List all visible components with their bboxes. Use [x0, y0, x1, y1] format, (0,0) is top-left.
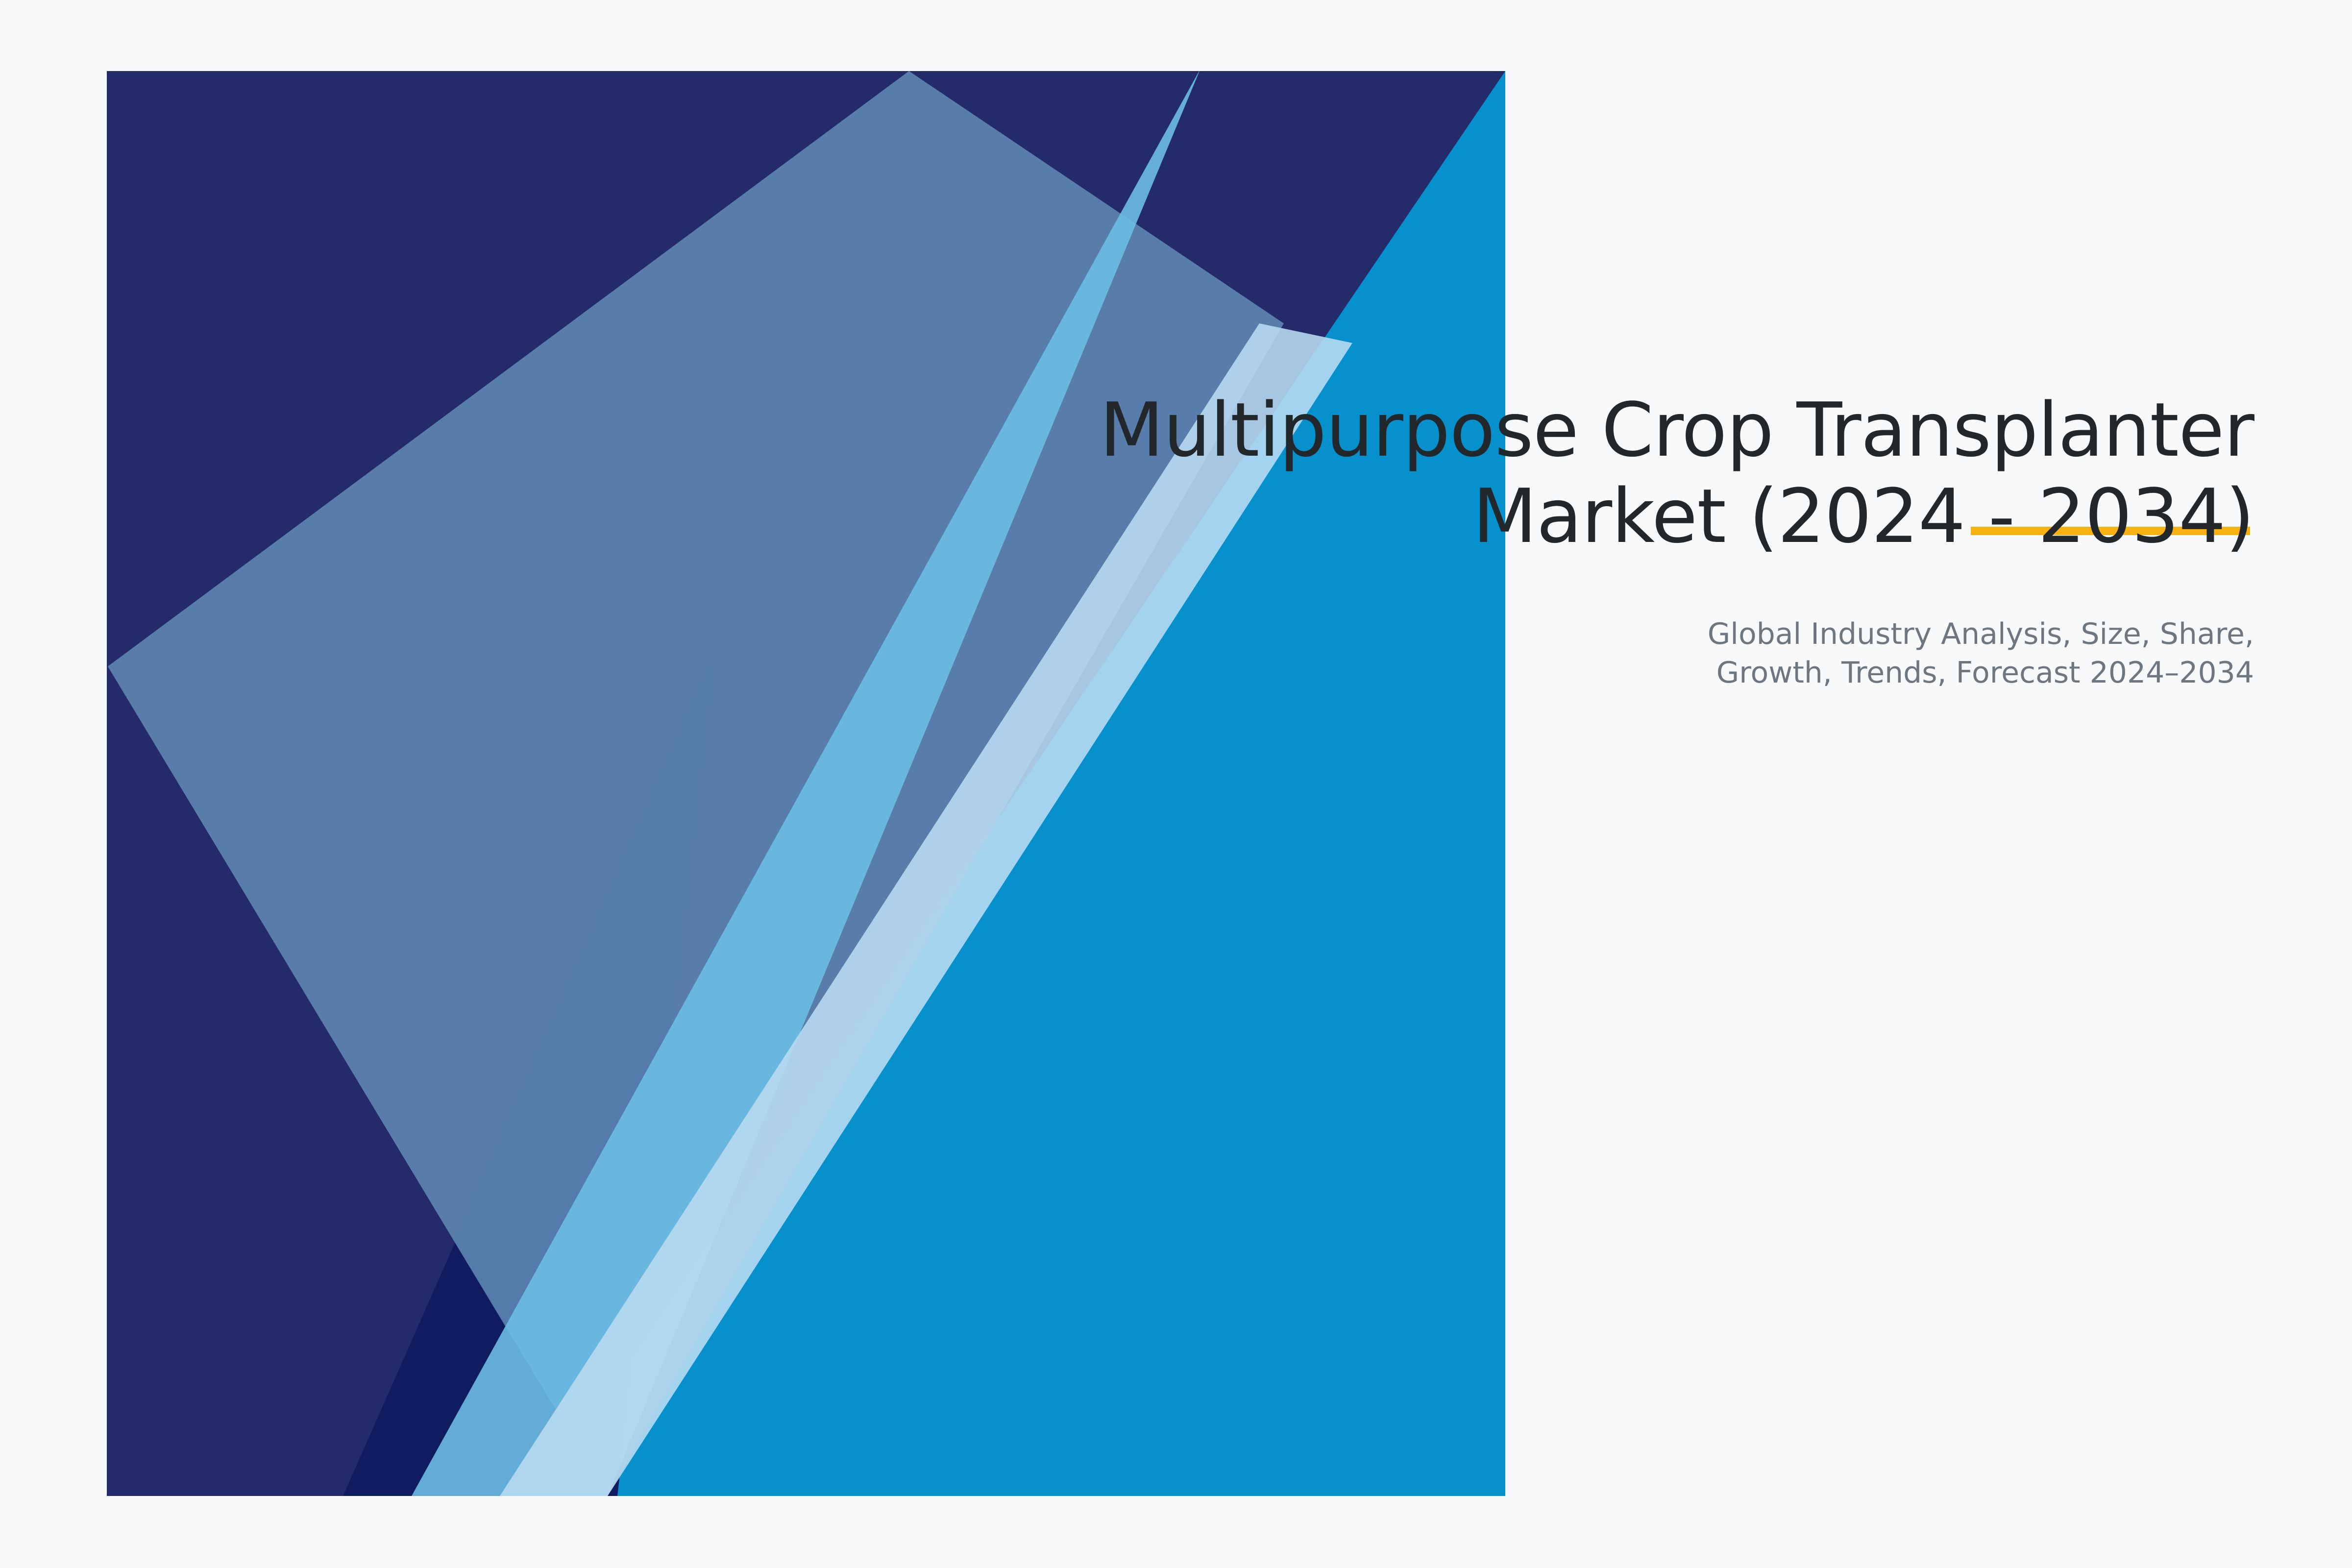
- page-title-line-1: Multipurpose Crop Transplanter: [1100, 387, 2254, 473]
- report-cover-page: Multipurpose Crop TransplanterMarket (20…: [0, 0, 2352, 1568]
- page-subtitle-line-2: Growth, Trends, Forecast 2024–2034: [1716, 656, 2254, 690]
- page-title: Multipurpose Crop TransplanterMarket (20…: [1053, 387, 2254, 560]
- cover-text-block: Multipurpose Crop TransplanterMarket (20…: [1053, 387, 2254, 693]
- page-subtitle-line-1: Global Industry Analysis, Size, Share,: [1708, 617, 2254, 651]
- cover-artwork: [0, 0, 2352, 1568]
- page-subtitle: Global Industry Analysis, Size, Share,Gr…: [1053, 615, 2254, 693]
- page-title-line-2: Market (2024 - 2034): [1472, 473, 2254, 560]
